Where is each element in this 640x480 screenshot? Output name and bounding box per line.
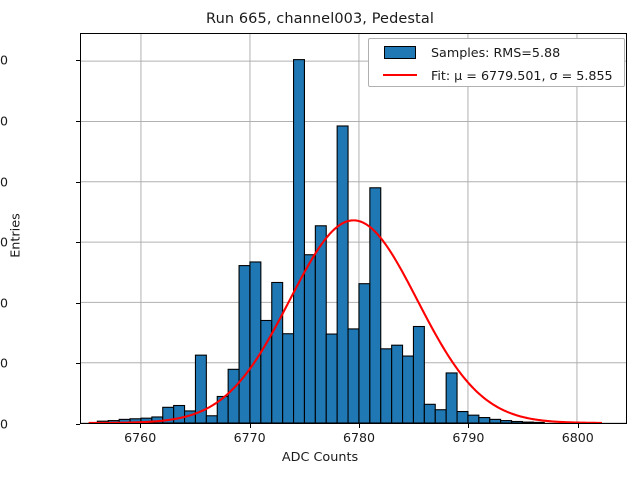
histogram-bar xyxy=(392,345,403,423)
legend-swatch-fit-icon xyxy=(369,74,431,76)
y-tick-label: 400 xyxy=(0,295,8,310)
histogram-bar xyxy=(272,282,283,423)
y-tick-label: 800 xyxy=(0,174,8,189)
y-tick-label: 1000 xyxy=(0,113,8,128)
histogram-bar xyxy=(174,406,185,423)
histogram-bar xyxy=(326,334,337,423)
histogram-bar xyxy=(250,262,261,423)
y-axis-label: Entries xyxy=(9,176,24,296)
histogram-bar xyxy=(413,327,424,423)
y-tick-mark xyxy=(76,60,80,61)
x-tick-label: 6790 xyxy=(428,430,508,445)
plot-area xyxy=(80,33,627,424)
x-tick-mark xyxy=(250,424,251,428)
legend-item-samples: Samples: RMS=5.88 xyxy=(369,40,624,64)
histogram-bar xyxy=(424,404,435,423)
legend-label-samples: Samples: RMS=5.88 xyxy=(431,45,560,60)
x-tick-mark xyxy=(140,424,141,428)
x-tick-mark xyxy=(578,424,579,428)
histogram-bar xyxy=(468,415,479,423)
x-tick-label: 6760 xyxy=(100,430,180,445)
y-tick-mark xyxy=(76,182,80,183)
y-tick-mark xyxy=(76,363,80,364)
histogram-bar xyxy=(522,422,533,423)
histogram-bar xyxy=(359,284,370,423)
histogram-bar xyxy=(501,421,512,423)
x-tick-mark xyxy=(359,424,360,428)
chart-figure: Run 665, channel003, Pedestal 6760677067… xyxy=(0,0,640,480)
histogram-bar xyxy=(490,419,501,423)
y-tick-label: 0 xyxy=(0,417,8,432)
y-tick-mark xyxy=(76,303,80,304)
histogram-bar xyxy=(533,422,544,423)
y-tick-label: 1200 xyxy=(0,53,8,68)
histogram-bar xyxy=(435,410,446,423)
plot-canvas xyxy=(81,34,626,423)
histogram-bar xyxy=(512,421,523,423)
histogram-bar xyxy=(228,369,239,423)
histogram-bar xyxy=(479,418,490,423)
histogram-bar xyxy=(446,373,457,423)
histogram-bar xyxy=(206,416,217,423)
histogram-bars xyxy=(97,60,544,423)
histogram-bar xyxy=(315,226,326,423)
histogram-bar xyxy=(239,266,250,423)
histogram-bar xyxy=(348,329,359,423)
histogram-bar xyxy=(370,188,381,423)
y-tick-mark xyxy=(76,121,80,122)
histogram-bar xyxy=(381,349,392,423)
x-tick-label: 6800 xyxy=(538,430,618,445)
histogram-bar xyxy=(304,255,315,423)
y-tick-mark xyxy=(76,424,80,425)
chart-title: Run 665, channel003, Pedestal xyxy=(0,11,640,27)
histogram-bar xyxy=(283,334,294,423)
histogram-bar xyxy=(457,412,468,423)
x-tick-label: 6770 xyxy=(210,430,290,445)
chart-legend: Samples: RMS=5.88 Fit: μ = 6779.501, σ =… xyxy=(368,38,625,87)
legend-label-fit: Fit: μ = 6779.501, σ = 5.855 xyxy=(431,68,613,83)
histogram-bar xyxy=(403,356,414,423)
legend-swatch-samples-icon xyxy=(369,46,431,59)
y-tick-label: 600 xyxy=(0,235,8,250)
x-tick-mark xyxy=(468,424,469,428)
x-axis-label: ADC Counts xyxy=(0,450,640,465)
histogram-bar xyxy=(294,60,305,423)
y-tick-label: 200 xyxy=(0,356,8,371)
legend-item-fit: Fit: μ = 6779.501, σ = 5.855 xyxy=(369,63,624,87)
histogram-bar xyxy=(337,126,348,423)
x-tick-label: 6780 xyxy=(319,430,399,445)
y-tick-mark xyxy=(76,242,80,243)
